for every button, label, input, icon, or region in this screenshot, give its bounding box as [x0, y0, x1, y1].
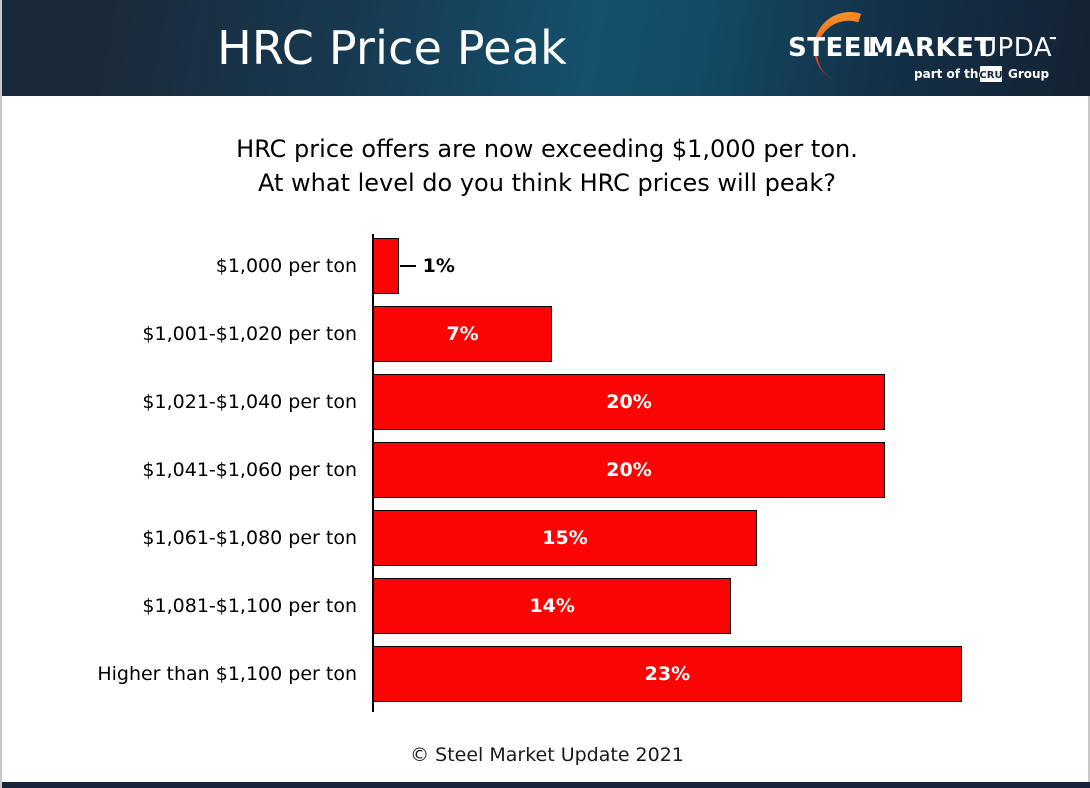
bar[interactable] [373, 442, 885, 498]
svg-text:CRU: CRU [979, 70, 1002, 81]
bar[interactable] [373, 578, 731, 634]
copyright-notice: © Steel Market Update 2021 [2, 744, 1090, 766]
slide-header: HRC Price Peak STEEL MARKET UPDATE [2, 0, 1090, 96]
label-leader-line [400, 265, 416, 267]
chart-row: $1,000 per ton1% [2, 232, 1090, 300]
chart-row: $1,001-$1,020 per ton7% [2, 300, 1090, 368]
category-label: $1,041-$1,060 per ton [2, 436, 357, 504]
svg-text:STEEL: STEEL [788, 33, 879, 63]
chart-row: $1,081-$1,100 per ton14% [2, 572, 1090, 640]
chart-subtitle-line1: HRC price offers are now exceeding $1,00… [2, 132, 1090, 166]
steel-market-update-logo: STEEL MARKET UPDATE part of the CRU Grou… [788, 8, 1056, 90]
bar[interactable] [373, 238, 399, 294]
svg-text:MARKET: MARKET [868, 33, 993, 63]
bar-value-label: 1% [413, 238, 543, 294]
bar[interactable] [373, 510, 757, 566]
category-label: $1,061-$1,080 per ton [2, 504, 357, 572]
chart-row: $1,061-$1,080 per ton15% [2, 504, 1090, 572]
slide: HRC Price Peak STEEL MARKET UPDATE [0, 0, 1090, 788]
bar[interactable] [373, 374, 885, 430]
page-title: HRC Price Peak [2, 0, 782, 96]
bar[interactable] [373, 306, 552, 362]
svg-text:Group: Group [1008, 67, 1050, 81]
bottom-accent-strip [2, 782, 1090, 788]
chart-row: $1,041-$1,060 per ton20% [2, 436, 1090, 504]
bar-chart: $1,000 per ton1%$1,001-$1,020 per ton7%$… [2, 232, 1090, 722]
category-label: $1,081-$1,100 per ton [2, 572, 357, 640]
chart-subtitle-line2: At what level do you think HRC prices wi… [2, 166, 1090, 200]
svg-text:UPDATE: UPDATE [978, 33, 1056, 63]
category-label: $1,000 per ton [2, 232, 357, 300]
chart-subtitle: HRC price offers are now exceeding $1,00… [2, 132, 1090, 200]
category-label: $1,001-$1,020 per ton [2, 300, 357, 368]
chart-row: Higher than $1,100 per ton23% [2, 640, 1090, 708]
bar[interactable] [373, 646, 962, 702]
category-label: $1,021-$1,040 per ton [2, 368, 357, 436]
category-label: Higher than $1,100 per ton [2, 640, 357, 708]
chart-row: $1,021-$1,040 per ton20% [2, 368, 1090, 436]
svg-text:part of the: part of the [914, 67, 987, 81]
